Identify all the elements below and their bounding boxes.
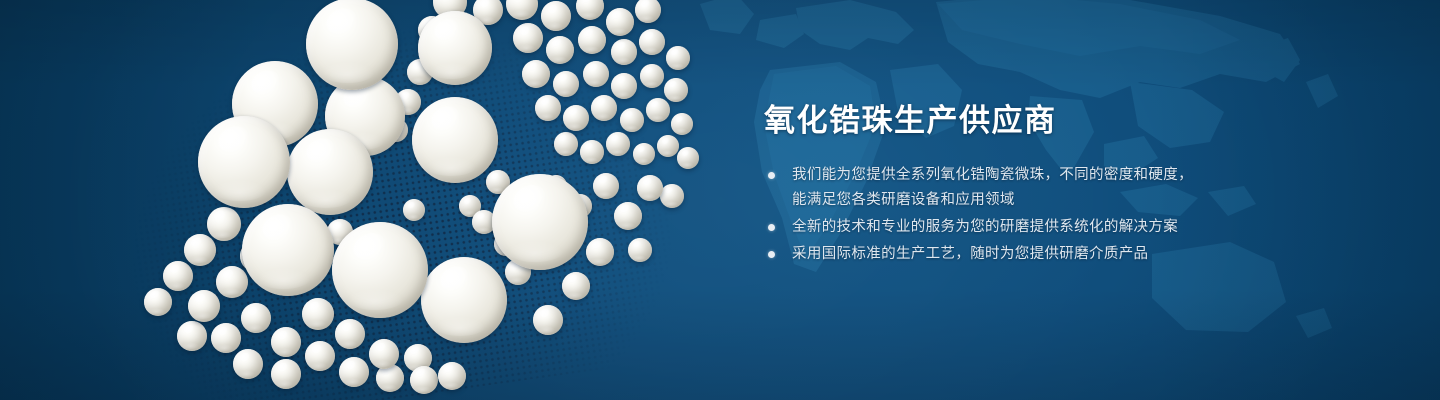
bullet-text-line: 全新的技术和专业的服务为您的研磨提供系统化的解决方案: [792, 215, 1364, 240]
bullet-text-line: 能满足您各类研磨设备和应用领域: [792, 188, 1364, 213]
bullet-dot-icon: [768, 172, 775, 179]
list-item: 我们能为您提供全系列氧化锆陶瓷微珠，不同的密度和硬度， 能满足您各类研磨设备和应…: [764, 163, 1364, 213]
list-item: 采用国际标准的生产工艺，随时为您提供研磨介质产品: [764, 242, 1364, 267]
bullet-dot-icon: [768, 251, 775, 258]
hero-banner: 氧化锆珠生产供应商 我们能为您提供全系列氧化锆陶瓷微珠，不同的密度和硬度， 能满…: [0, 0, 1440, 400]
page-title: 氧化锆珠生产供应商: [764, 104, 1364, 137]
banner-copy: 氧化锆珠生产供应商 我们能为您提供全系列氧化锆陶瓷微珠，不同的密度和硬度， 能满…: [764, 104, 1364, 269]
list-item: 全新的技术和专业的服务为您的研磨提供系统化的解决方案: [764, 215, 1364, 240]
bullet-text-line: 采用国际标准的生产工艺，随时为您提供研磨介质产品: [792, 242, 1364, 267]
feature-bullet-list: 我们能为您提供全系列氧化锆陶瓷微珠，不同的密度和硬度， 能满足您各类研磨设备和应…: [764, 163, 1364, 267]
bullet-text-line: 我们能为您提供全系列氧化锆陶瓷微珠，不同的密度和硬度，: [792, 163, 1364, 188]
bullet-dot-icon: [768, 224, 775, 231]
